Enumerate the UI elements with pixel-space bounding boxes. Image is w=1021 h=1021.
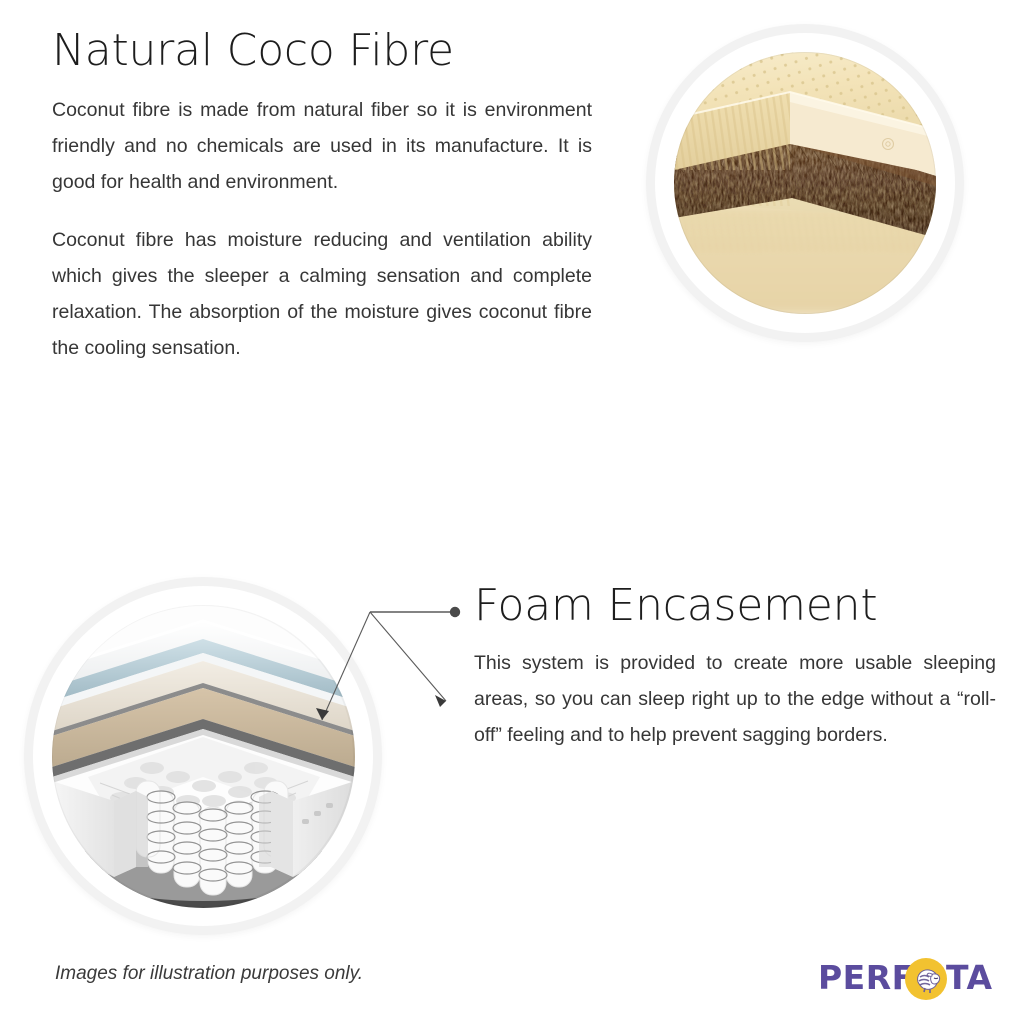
leader-arrow-right (435, 695, 446, 707)
product-feature-page: Natural Coco Fibre Coconut fibre is made… (0, 0, 1021, 1021)
crescent-moon-with-sleeping-lamb-icon (903, 956, 949, 1002)
foam-encasement-paragraph-1: This system is provided to create more u… (474, 645, 996, 753)
coco-fibre-text-block: Natural Coco Fibre Coconut fibre is made… (52, 28, 592, 366)
coco-fibre-photo (674, 52, 936, 314)
coco-fibre-paragraph-1: Coconut fibre is made from natural fiber… (52, 92, 592, 200)
disclaimer-text: Images for illustration purposes only. (55, 963, 363, 985)
coco-fibre-paragraph-2: Coconut fibre has moisture reducing and … (52, 222, 592, 366)
coco-fibre-illustration (674, 52, 936, 314)
leader-line-dot (450, 607, 460, 617)
page-title-natural-coco-fibre: Natural Coco Fibre (52, 28, 592, 74)
perfecta-logo: PERFE TA (818, 956, 1000, 1006)
foam-encasement-photo (52, 605, 355, 908)
leader-branch-right (370, 612, 446, 701)
foam-encasement-illustration (52, 605, 355, 908)
page-title-foam-encasement: Foam Encasement (474, 583, 996, 629)
foam-encasement-text-block: Foam Encasement This system is provided … (474, 583, 996, 753)
logo-text-suffix: TA (946, 956, 993, 1000)
